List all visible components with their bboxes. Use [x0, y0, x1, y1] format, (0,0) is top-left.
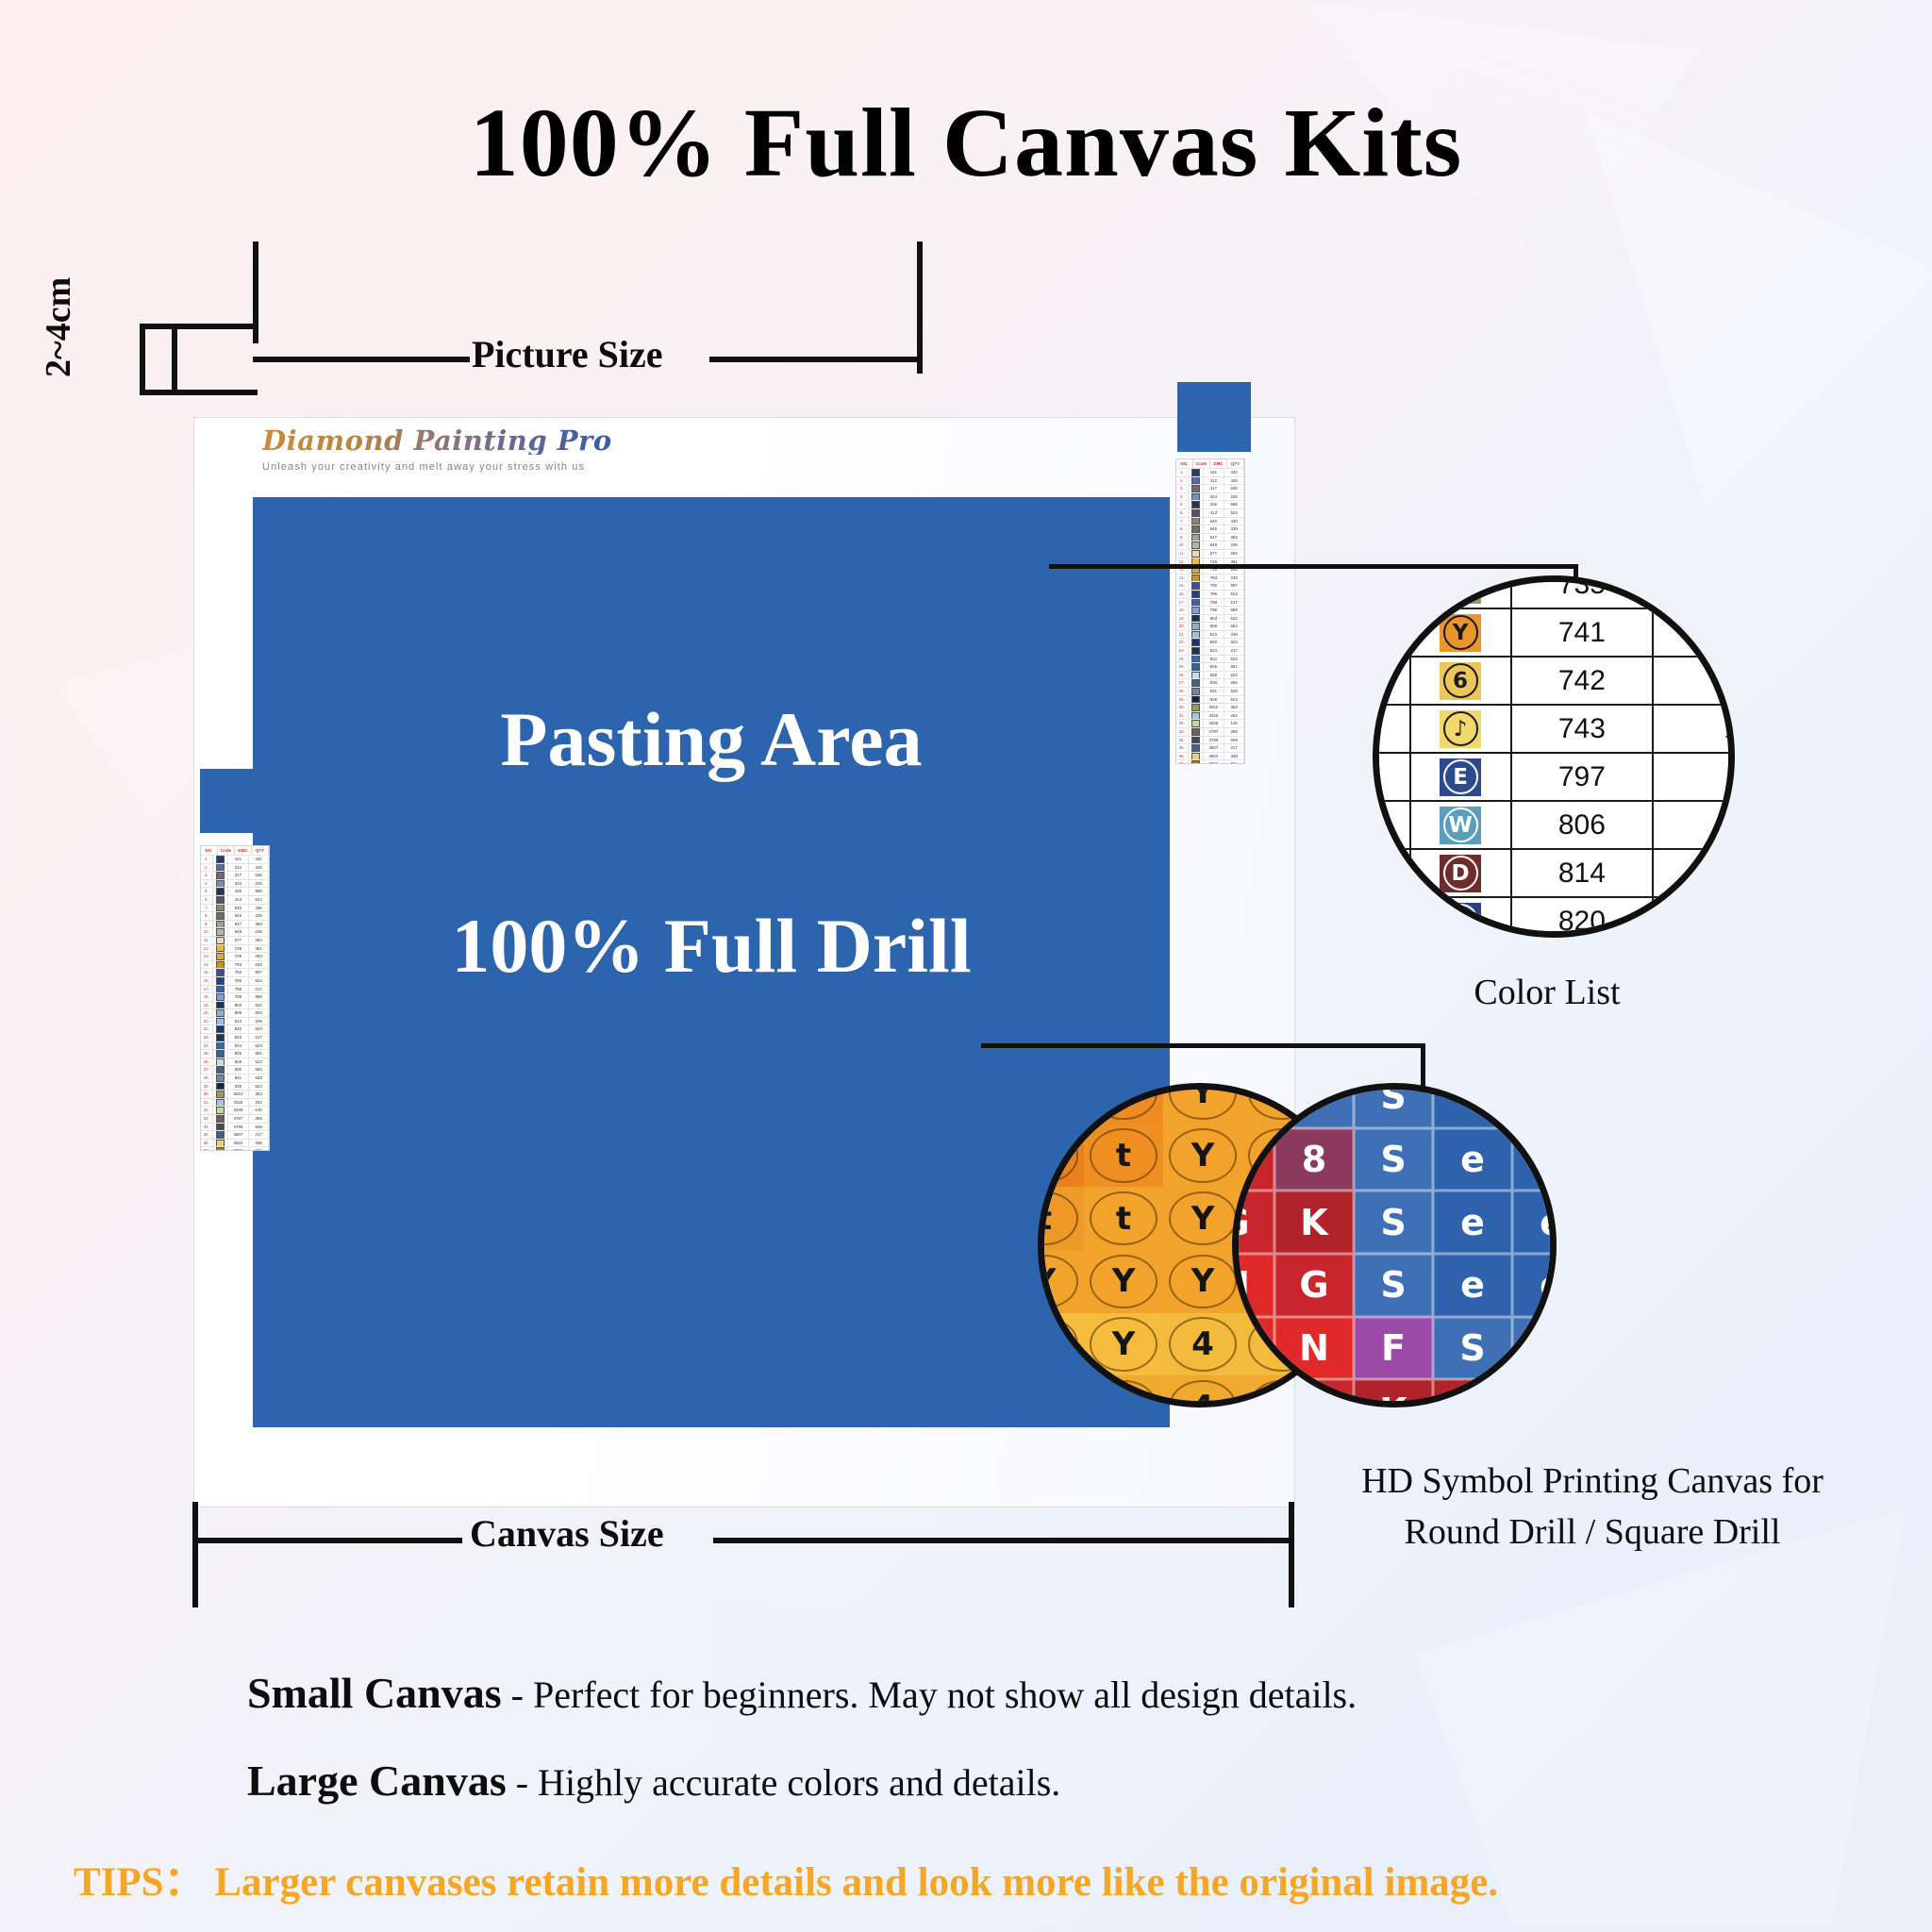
mini-table-row: 15.792807: [1176, 581, 1244, 590]
mini-table-swatch: [213, 864, 228, 872]
mini-table-qty: 524: [1224, 639, 1244, 646]
mini-table-qty: 899: [1224, 607, 1244, 614]
mini-table-swatch: [1189, 639, 1204, 646]
mini-table-row: 3.317636: [201, 871, 269, 879]
mini-table-row: 30.3012353: [201, 1090, 269, 1098]
mini-table-qty: 353: [249, 1091, 269, 1098]
mini-table-qty: 807: [249, 969, 269, 976]
mini-table-row: 29.939524: [1176, 695, 1244, 704]
round-drill-cell: Y: [1163, 1187, 1242, 1250]
color-list-zoom-row: 14.6742248: [1373, 657, 1735, 705]
color-list-code: 820: [1511, 897, 1654, 938]
color-list-qty: 248: [1653, 657, 1735, 705]
mini-table-swatch: [213, 856, 228, 863]
mini-table-no: 8.: [1176, 525, 1189, 533]
mini-table-no: 10.: [201, 928, 213, 936]
mini-table-row: 11.677284: [201, 936, 269, 944]
mini-table-qty: 604: [249, 1009, 269, 1017]
mini-table-swatch: [213, 928, 228, 936]
color-list-no: [1373, 897, 1410, 938]
mini-table-no: 18.: [201, 993, 213, 1001]
mini-table-no: 7.: [201, 905, 213, 912]
mini-table-swatch: [1189, 631, 1204, 639]
mini-table-no: 25.: [201, 1050, 213, 1058]
mini-table-qty: 426: [249, 864, 269, 872]
mini-table-swatch: [213, 969, 228, 976]
drill-caption-line2: Round Drill / Square Drill: [1309, 1511, 1875, 1553]
mini-table-swatch: [213, 880, 228, 888]
mini-table-code: 413: [228, 896, 250, 904]
mini-table-qty: 353: [1224, 704, 1244, 711]
brand-name: Diamond Painting Pro: [262, 427, 791, 455]
mini-table-row: 7.640430: [201, 904, 269, 912]
mini-table-no: 37.: [201, 1147, 213, 1151]
mini-table-code: 645: [228, 912, 250, 920]
mini-table-row: 17.798217: [201, 985, 269, 993]
mini-table-code: 798: [228, 986, 250, 993]
mini-table-header-cell: Code: [1193, 459, 1210, 468]
mini-table-no: 36.: [1176, 753, 1189, 760]
mini-table-no: 6.: [1176, 509, 1189, 517]
mini-table-no: 36.: [201, 1140, 213, 1147]
mini-table-no: 23.: [1176, 647, 1189, 655]
mini-table-no: 25.: [1176, 663, 1189, 671]
mini-table-code: 783: [1204, 575, 1225, 582]
mini-table-row: 12.728361: [201, 944, 269, 953]
mini-table-swatch: [1189, 582, 1204, 590]
mini-table-code: 647: [1204, 534, 1225, 541]
color-list-code: 797: [1511, 753, 1654, 801]
mini-table-code: 783: [228, 961, 250, 969]
mini-table-qty: 339: [249, 912, 269, 920]
mini-table-swatch: [213, 896, 228, 904]
mini-table-row: 4.334226: [201, 879, 269, 888]
mini-table-qty: 524: [1224, 656, 1244, 663]
color-list-qty: 40: [1653, 849, 1735, 897]
mini-table-swatch: [213, 1018, 228, 1025]
mini-table-row: 8.645339: [1176, 525, 1244, 533]
mini-table-qty: 284: [1224, 550, 1244, 558]
mini-table-qty: 524: [1224, 509, 1244, 517]
mini-table-no: 11.: [1176, 550, 1189, 558]
mini-table-no: 15.: [1176, 582, 1189, 590]
mini-table-qty: 226: [249, 880, 269, 888]
mini-table-swatch: [1189, 477, 1204, 485]
mini-table-qty: 524: [1224, 696, 1244, 704]
mini-table-row: 23.823217: [1176, 646, 1244, 655]
mini-table-header-cell: QTY: [252, 846, 269, 855]
mini-table-no: 33.: [201, 1115, 213, 1123]
mini-table-code: 828: [228, 1058, 250, 1066]
mini-table-code: 317: [228, 872, 250, 879]
page-title: 100% Full Canvas Kits: [0, 87, 1932, 199]
mini-table-swatch: [1189, 744, 1204, 752]
mini-table-no: 14.: [1176, 575, 1189, 582]
color-list-no: 18.: [1373, 849, 1410, 897]
mini-table-swatch: [213, 921, 228, 928]
square-drill-cell: 8: [1274, 1128, 1354, 1191]
mini-table-row: 34.3799609: [1176, 736, 1244, 744]
mini-table-qty: 226: [1224, 493, 1244, 501]
mini-table-code: 161: [228, 856, 250, 863]
full-drill-label: 100% Full Drill: [451, 902, 971, 991]
mini-table-code: 3348: [1204, 720, 1225, 727]
mini-table-row: 10.648246: [201, 927, 269, 936]
mini-table-no: 9.: [1176, 534, 1189, 541]
mini-table-qty: 899: [249, 993, 269, 1001]
mini-table-row: 16.796524: [201, 976, 269, 985]
round-drill-cell: Y: [1163, 1250, 1242, 1313]
mini-table-swatch: [213, 1131, 228, 1139]
mini-table-row: 37.3826391: [201, 1146, 269, 1151]
color-list-magnifier: ★735.Y741114.674224815.♪743192116.E79741…: [1373, 575, 1735, 938]
mini-table-swatch: [1189, 672, 1204, 679]
color-list-code: 814: [1511, 849, 1654, 897]
color-list-symbol: W: [1410, 801, 1511, 849]
mini-table-swatch: [213, 1074, 228, 1082]
mini-table-no: 24.: [201, 1042, 213, 1050]
mini-table-no: 26.: [1176, 672, 1189, 679]
mini-table-no: 6.: [201, 896, 213, 904]
bottom-notes: Small Canvas - Perfect for beginners. Ma…: [0, 1668, 1932, 1913]
mini-table-swatch: [1189, 469, 1204, 476]
mini-table-code: 823: [228, 1034, 250, 1041]
square-drill-cell: N: [1232, 1317, 1274, 1380]
mini-table-code: 796: [1204, 591, 1225, 598]
mini-table-no: 31.: [201, 1099, 213, 1107]
mini-table-qty: 604: [1224, 623, 1244, 630]
small-canvas-note: Small Canvas - Perfect for beginners. Ma…: [0, 1668, 1932, 1718]
mini-table-swatch: [213, 1050, 228, 1058]
mini-table-no: 7.: [1176, 518, 1189, 525]
color-list-qty: [1653, 897, 1735, 938]
mini-table-code: 930: [1204, 679, 1225, 687]
color-list-symbol: ♪: [1410, 705, 1511, 753]
margin-tick-right: [172, 324, 177, 395]
mini-table-code: 931: [1204, 688, 1225, 695]
mini-table-row: 5.336998: [1176, 500, 1244, 508]
canvas-size-line-right: [713, 1538, 1292, 1543]
color-list-no: 15.: [1373, 705, 1410, 753]
small-canvas-lead: Small Canvas: [247, 1669, 502, 1717]
mini-table-row: 4.334226: [1176, 492, 1244, 501]
mini-table-code: 648: [1204, 541, 1225, 549]
mini-table-code: 813: [228, 1018, 250, 1025]
square-drill-cell: N: [1274, 1317, 1354, 1380]
drill-caption-line1: HD Symbol Printing Canvas for: [1309, 1460, 1875, 1502]
square-drill-cell: K: [1354, 1379, 1433, 1407]
mini-table-no: 15.: [201, 969, 213, 976]
mini-table-row: 24.824524: [201, 1041, 269, 1050]
mini-table-header-cell: NO.: [201, 846, 218, 855]
mini-table-code: 809: [1204, 623, 1225, 630]
mini-table-code: 799: [228, 993, 250, 1001]
mini-table-swatch: [213, 872, 228, 879]
margin-tick-left: [140, 324, 145, 395]
mini-table-header: NO.CodeDMCQTY: [201, 846, 269, 855]
mini-table-code: 3325: [228, 1099, 250, 1107]
mini-table-no: 21.: [201, 1018, 213, 1025]
mini-table-qty: 524: [249, 1025, 269, 1033]
mini-table-no: 8.: [201, 912, 213, 920]
mini-table-code: 3807: [228, 1131, 250, 1139]
mini-table-qty: 524: [249, 1042, 269, 1050]
mini-table-qty: 524: [249, 1083, 269, 1091]
mini-table-swatch: [213, 888, 228, 895]
mini-table-swatch: [213, 1124, 228, 1131]
color-list-caption: Color List: [1368, 972, 1726, 1013]
mini-table-code: 3799: [228, 1124, 250, 1131]
mini-table-no: 16.: [201, 977, 213, 985]
mini-table-row: 31.3325252: [1176, 711, 1244, 720]
mini-table-swatch: [1189, 720, 1204, 727]
mini-table-swatch: [1189, 728, 1204, 736]
mini-table-swatch: [213, 1025, 228, 1033]
mini-table-qty: 998: [249, 888, 269, 895]
mini-table-swatch: [1189, 737, 1204, 744]
round-drill-cell: t: [1084, 1124, 1163, 1188]
mini-table-swatch: [1189, 525, 1204, 533]
mini-table-no: 16.: [1176, 591, 1189, 598]
mini-table-swatch: [213, 1066, 228, 1074]
mini-table-qty: 252: [1224, 712, 1244, 720]
mini-table-header-cell: QTY: [1227, 459, 1244, 468]
mini-table-swatch: [1189, 518, 1204, 525]
mini-table-row: 26.828524: [201, 1058, 269, 1066]
mini-table-code: 823: [1204, 647, 1225, 655]
mini-table-qty: 217: [1224, 744, 1244, 752]
mini-table-code: 825: [1204, 663, 1225, 671]
color-list-code: 735: [1511, 575, 1654, 608]
margin-line-bottom: [140, 390, 258, 395]
mini-table-qty: 524: [249, 977, 269, 985]
mini-table-code: 413: [1204, 509, 1225, 517]
picture-size-line-right: [709, 357, 923, 362]
round-drill-cell: Y: [1038, 1313, 1084, 1376]
mini-table-code: 798: [1204, 599, 1225, 607]
mini-table-qty: 609: [249, 1124, 269, 1131]
mini-table-code: 939: [228, 1083, 250, 1091]
mini-table-row: 30.3012353: [1176, 703, 1244, 711]
mini-table-qty: 217: [249, 986, 269, 993]
mini-table-swatch: [1189, 696, 1204, 704]
pasting-area: Pasting Area 100% Full Drill: [253, 497, 1170, 1427]
mini-table-row: 20.809604: [201, 1008, 269, 1017]
canvas-size-left-tick: [192, 1502, 198, 1607]
mini-table-qty: 349: [249, 1018, 269, 1025]
mini-table-qty: 361: [249, 945, 269, 953]
mini-table-no: 23.: [201, 1034, 213, 1041]
mini-table-qty: 349: [1224, 631, 1244, 639]
mini-table-no: 12.: [201, 945, 213, 953]
mini-table-code: 939: [1204, 696, 1225, 704]
mini-table-no: 30.: [1176, 704, 1189, 711]
mini-table-qty: 338: [1224, 753, 1244, 760]
mini-table-code: 640: [1204, 518, 1225, 525]
round-drill-cell: Y: [1084, 1250, 1163, 1313]
mini-table-code: 645: [1204, 525, 1225, 533]
mini-table-qty: 609: [1224, 737, 1244, 744]
mini-table-row: 27.930665: [201, 1065, 269, 1074]
mini-table-swatch: [1189, 591, 1204, 598]
mini-table-no: 19.: [1176, 615, 1189, 623]
mini-table-qty: 528: [249, 1074, 269, 1082]
mini-table-swatch: [213, 1091, 228, 1098]
mini-table-qty: 383: [1224, 534, 1244, 541]
mini-table-code: 640: [228, 905, 250, 912]
mini-table-swatch: [213, 1034, 228, 1041]
mini-table-qty: 851: [1224, 663, 1244, 671]
mini-table-row: 6.413524: [201, 895, 269, 904]
color-list-zoom-row: a820: [1373, 897, 1735, 938]
round-drill-cell: Y: [1038, 1250, 1084, 1313]
mini-table-no: 2.: [201, 864, 213, 872]
mini-table-no: 10.: [1176, 541, 1189, 549]
mini-table-row: 10.648246: [1176, 541, 1244, 549]
mini-table-row: 18.799899: [201, 992, 269, 1001]
mini-table-no: 34.: [201, 1124, 213, 1131]
mini-table-row: 32.3348146: [201, 1106, 269, 1114]
mini-table-row: 22.820524: [1176, 638, 1244, 646]
color-list-no: 14.: [1373, 657, 1410, 705]
mini-table-swatch: [1189, 704, 1204, 711]
mini-table-qty: 432: [249, 856, 269, 863]
mini-table-qty: 665: [249, 1066, 269, 1074]
square-drill-cell: e: [1512, 1191, 1557, 1254]
square-drill-cell: K: [1512, 1379, 1557, 1407]
mini-table-qty: 430: [249, 905, 269, 912]
mini-table-no: 3.: [1176, 485, 1189, 492]
mini-table-code: 820: [228, 1025, 250, 1033]
mini-table-qty: 528: [1224, 688, 1244, 695]
mini-table-qty: 807: [1224, 582, 1244, 590]
mini-table-qty: 636: [1224, 485, 1244, 492]
brand-tagline: Unleash your creativity and melt away yo…: [262, 461, 791, 473]
mini-table-code: 803: [228, 1002, 250, 1009]
mini-table-row: 9.647383: [201, 920, 269, 928]
color-list-zoom-row: ★735: [1373, 575, 1735, 608]
mini-table-swatch: [1189, 647, 1204, 655]
mini-table-code: 648: [228, 928, 250, 936]
mini-table-no: 34.: [1176, 737, 1189, 744]
mini-table-row: 27.930665: [1176, 678, 1244, 687]
square-drill-cell: e: [1512, 1254, 1557, 1317]
color-list-zoom-table: ★735.Y741114.674224815.♪743192116.E79741…: [1373, 575, 1735, 938]
color-list-code: 743: [1511, 705, 1654, 753]
mini-table-swatch: [213, 1009, 228, 1017]
mini-table-row: 22.820524: [201, 1024, 269, 1033]
mini-table-code: 930: [228, 1066, 250, 1074]
mini-table-code: 3822: [228, 1140, 250, 1147]
mini-table-code: 336: [228, 888, 250, 895]
mini-table-code: 3325: [1204, 712, 1225, 720]
mini-table-swatch: [213, 961, 228, 969]
mini-table-qty: 383: [249, 921, 269, 928]
color-list-qty: 1921: [1653, 705, 1735, 753]
mini-table-no: 18.: [1176, 607, 1189, 614]
mini-table-swatch: [213, 937, 228, 944]
mini-table-row: 37.3826391: [1176, 759, 1244, 764]
mini-table-row: 1.161432: [201, 855, 269, 863]
square-drill-cell: F: [1354, 1317, 1433, 1380]
square-drill-cell: N: [1232, 1254, 1274, 1317]
mini-table-qty: 665: [1224, 679, 1244, 687]
mini-table-no: 14.: [201, 961, 213, 969]
mini-table-swatch: [1189, 541, 1204, 549]
mini-table-no: 20.: [201, 1009, 213, 1017]
round-drill-cell: Y: [1163, 1083, 1242, 1124]
mini-table-no: 29.: [1176, 696, 1189, 704]
mini-table-swatch: [1189, 550, 1204, 558]
mini-table-no: 22.: [201, 1025, 213, 1033]
mini-table-row: 18.799899: [1176, 606, 1244, 614]
mini-table-no: 5.: [201, 888, 213, 895]
mini-table-code: 317: [1204, 485, 1225, 492]
mini-table-no: 32.: [1176, 720, 1189, 727]
mini-table-swatch: [213, 953, 228, 960]
square-drill-cell: e: [1433, 1083, 1512, 1128]
mini-table-swatch: [213, 1115, 228, 1123]
mini-color-table-right: NO.CodeDMCQTY1.1614322.3124263.3176364.3…: [1175, 458, 1245, 764]
mini-table-row: 11.677284: [1176, 549, 1244, 558]
mini-table-row: 16.796524: [1176, 590, 1244, 598]
mini-table-row: 6.413524: [1176, 508, 1244, 517]
mini-table-swatch: [213, 986, 228, 993]
mini-table-swatch: [213, 1002, 228, 1009]
mini-table-row: 8.645339: [201, 911, 269, 920]
blue-corner-square-right: [1177, 382, 1251, 452]
mini-table-qty: 217: [1224, 647, 1244, 655]
round-drill-cell: t: [1084, 1187, 1163, 1250]
mini-table-row: 35.3807217: [1176, 743, 1244, 752]
mini-table-code: 729: [228, 953, 250, 960]
square-drill-cell: S: [1354, 1083, 1433, 1128]
mini-table-header-cell: NO.: [1176, 459, 1193, 468]
round-drill-cell: t: [1038, 1124, 1084, 1188]
mini-table-swatch: [1189, 509, 1204, 517]
mini-table-no: 2.: [1176, 477, 1189, 485]
mini-table-no: 19.: [201, 1002, 213, 1009]
mini-table-qty: 524: [1224, 591, 1244, 598]
mini-table-row: 2.312426: [201, 863, 269, 872]
mini-table-no: 11.: [201, 937, 213, 944]
mini-table-row: 14.783233: [201, 960, 269, 969]
square-drill-cell: G: [1274, 1254, 1354, 1317]
mini-table-code: 799: [1204, 607, 1225, 614]
mini-table-qty: 233: [1224, 575, 1244, 582]
mini-table-code: 312: [228, 864, 250, 872]
square-drill-grid: GSSeeG8SeeGKSeeNGSeeNNFSSNNKKK: [1232, 1083, 1557, 1407]
color-list-zoom-row: 16.E797414: [1373, 753, 1735, 801]
mini-table-swatch: [213, 1147, 228, 1151]
mini-table-no: 1.: [201, 856, 213, 863]
mini-table-no: 28.: [201, 1074, 213, 1082]
mini-table-qty: 233: [249, 961, 269, 969]
mini-table-swatch: [1189, 623, 1204, 630]
square-drill-cell: S: [1354, 1128, 1433, 1191]
mini-table-qty: 252: [249, 1099, 269, 1107]
mini-table-no: 22.: [1176, 639, 1189, 646]
mini-table-row: 33.3787369: [201, 1114, 269, 1123]
square-drill-cell: G: [1232, 1128, 1274, 1191]
mini-table-code: 792: [228, 969, 250, 976]
mini-table-no: 35.: [1176, 744, 1189, 752]
large-canvas-note: Large Canvas - Highly accurate colors an…: [0, 1756, 1932, 1806]
mini-table-qty: 217: [249, 1131, 269, 1139]
mini-table-row: 25.825851: [1176, 662, 1244, 671]
mini-table-qty: 246: [249, 928, 269, 936]
mini-table-code: 728: [228, 945, 250, 953]
